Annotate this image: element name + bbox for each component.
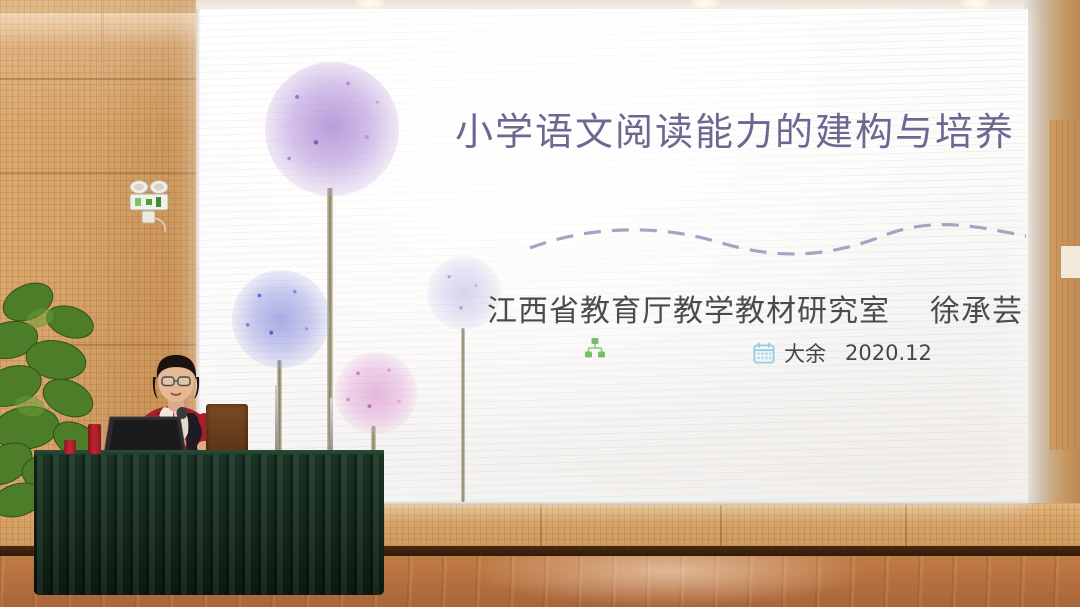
red-thermos bbox=[88, 424, 101, 454]
flower-bloom bbox=[265, 62, 399, 196]
conference-photo-scene: 小学语文阅读能力的建构与培养 江西省教育厅教学教材研究室徐承芸 bbox=[0, 0, 1080, 607]
wall-seam bbox=[0, 78, 196, 80]
org-chart-icon bbox=[583, 337, 607, 361]
slide-subtitle-org: 江西省教育厅教学教材研究室 bbox=[487, 294, 890, 329]
wall-seam bbox=[0, 172, 196, 174]
slide-subtitle: 江西省教育厅教学教材研究室徐承芸 bbox=[487, 286, 1023, 330]
wall-light-wash bbox=[0, 13, 196, 47]
table-skirt bbox=[34, 455, 384, 595]
calendar-icon bbox=[753, 342, 775, 364]
slide-subtitle-presenter: 徐承芸 bbox=[930, 294, 1023, 329]
right-wall-panel bbox=[1050, 120, 1080, 450]
flower-bloom bbox=[335, 352, 417, 434]
microphone-stand bbox=[275, 385, 278, 455]
microphone-stand bbox=[330, 398, 333, 454]
slide-title: 小学语文阅读能力的建构与培养 bbox=[455, 101, 1015, 156]
flower-stem bbox=[461, 328, 465, 502]
flower-bloom bbox=[232, 270, 330, 368]
red-cup bbox=[64, 440, 76, 454]
chair-back bbox=[206, 404, 248, 456]
slide-meta-place: 大余 bbox=[784, 338, 826, 368]
wall-seam bbox=[540, 503, 542, 549]
wavy-dashed-divider bbox=[528, 218, 1028, 262]
wall-seam bbox=[720, 503, 722, 549]
wall-seam bbox=[905, 503, 907, 549]
floor-light-reflection bbox=[470, 556, 870, 607]
slide-meta-row: 大余 2020.12 bbox=[753, 338, 932, 368]
slide-meta-date: 2020.12 bbox=[845, 341, 932, 365]
emergency-light-icon bbox=[128, 178, 170, 234]
wall-fixture bbox=[1060, 245, 1080, 279]
